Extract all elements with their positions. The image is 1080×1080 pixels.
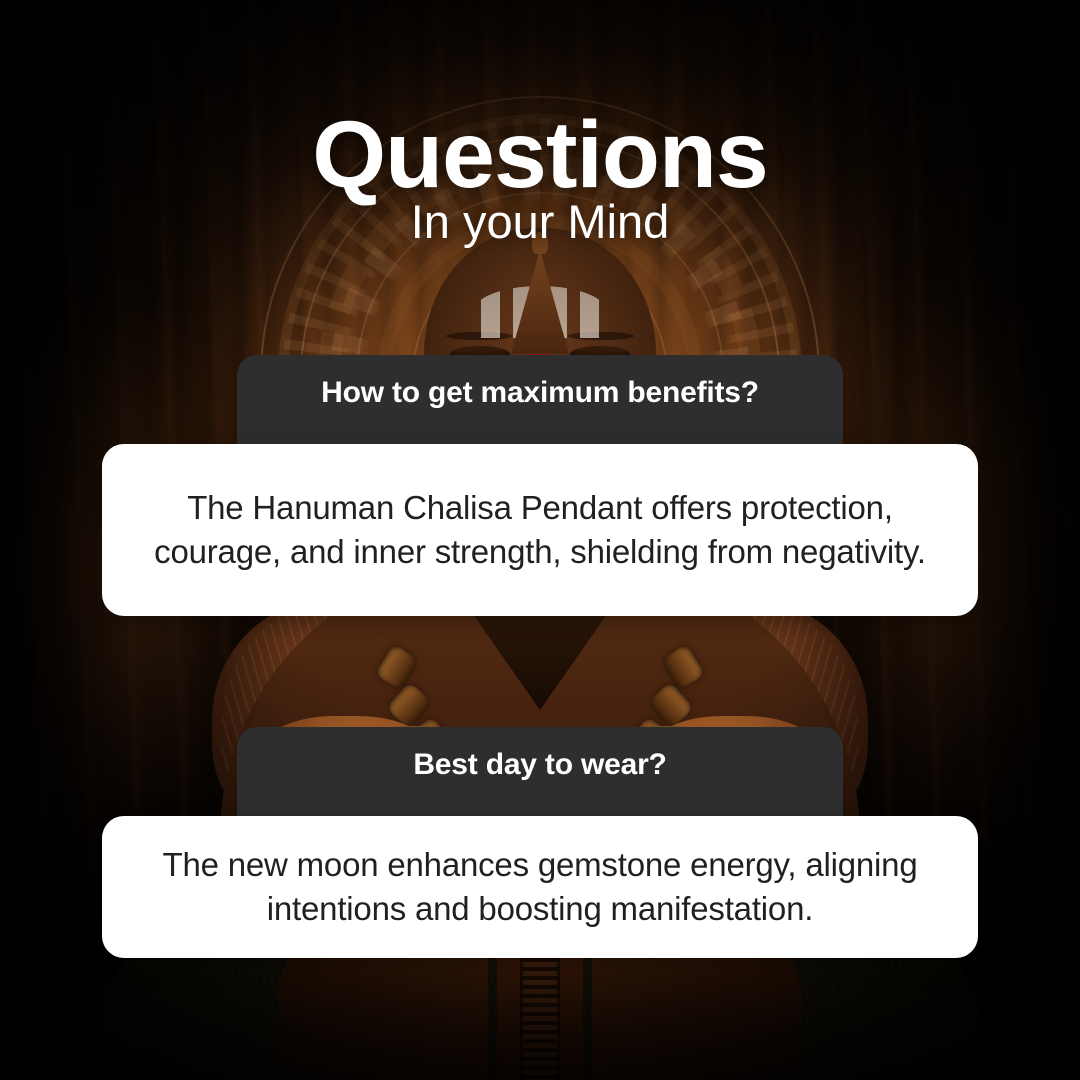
page-subtitle: In your Mind (0, 196, 1080, 248)
answer-card-2: The new moon enhances gemstone energy, a… (102, 816, 978, 958)
content-layer: Questions In your Mind How to get maximu… (0, 0, 1080, 1080)
faq-item-1: How to get maximum benefits? The Hanuman… (0, 355, 1080, 616)
answer-text-1: The Hanuman Chalisa Pendant offers prote… (132, 486, 948, 573)
answer-text-2: The new moon enhances gemstone energy, a… (132, 843, 948, 930)
question-text-1: How to get maximum benefits? (321, 376, 759, 409)
page-title: Questions (0, 108, 1080, 203)
promo-graphic: Questions In your Mind How to get maximu… (0, 0, 1080, 1080)
question-text-2: Best day to wear? (413, 748, 666, 781)
faq-item-2: Best day to wear? The new moon enhances … (0, 727, 1080, 958)
answer-card-1: The Hanuman Chalisa Pendant offers prote… (102, 444, 978, 616)
